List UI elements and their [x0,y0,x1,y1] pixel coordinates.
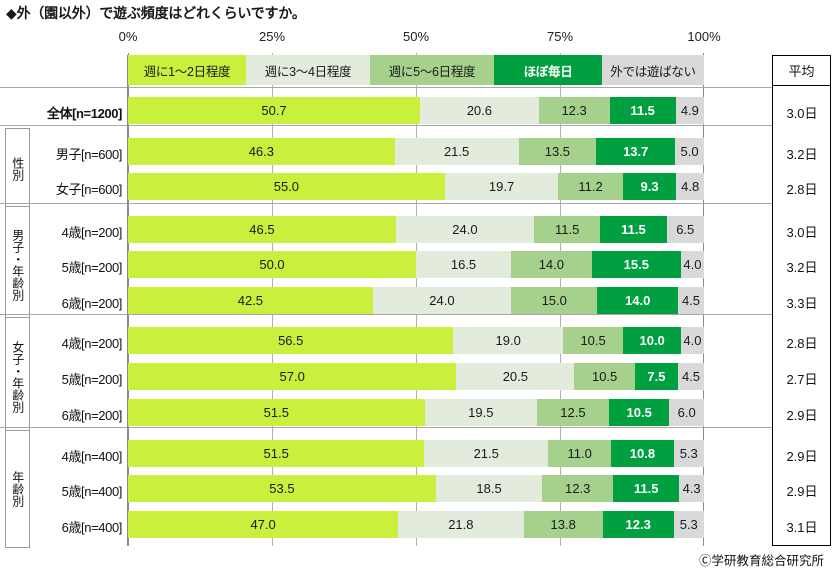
row-label: 4歳[n=200] [30,222,122,241]
bar-segment-5: 4.0 [681,327,704,354]
bar-segment-3: 12.3 [542,475,613,502]
bar-segment-1: 51.5 [128,440,424,467]
bar-segment-3: 10.5 [574,363,634,390]
group-separator [0,203,772,204]
bar-segment-1: 42.5 [128,287,373,314]
table-row: 57.020.510.57.54.5 [128,363,704,390]
group-label-text: 性別 [11,157,24,181]
bar-segment-2: 21.8 [398,511,523,538]
bar-segment-1: 46.3 [128,138,395,165]
average-header-rule [772,85,831,86]
bar-segment-3: 14.0 [511,251,592,278]
bar-segment-1: 51.5 [128,399,425,426]
bar-segment-5: 4.5 [678,363,704,390]
axis-tick-label: 25% [259,29,285,44]
table-row: 50.016.514.015.54.0 [128,251,704,278]
bar-segment-5: 4.5 [678,287,704,314]
row-label: 4歳[n=200] [30,333,122,352]
row-label: 女子[n=600] [30,179,122,198]
bar-segment-2: 24.0 [396,216,534,243]
axis-tick-label: 0% [119,29,138,44]
row-label: 5歳[n=200] [30,257,122,276]
chart-legend: 週に1～2日程度週に3～4日程度週に5～6日程度ほぼ毎日外では遊ばない [128,55,704,85]
bar-segment-4: 15.5 [592,251,681,278]
bar-segment-5: 5.3 [674,511,704,538]
bar-segment-2: 18.5 [436,475,542,502]
bar-segment-1: 50.7 [128,97,420,124]
bar-segment-1: 50.0 [128,251,416,278]
group-label-box: 年齢別 [5,430,30,548]
table-row: 51.521.511.010.85.3 [128,440,704,467]
table-row: 50.720.612.311.54.9 [128,97,704,124]
row-label: 5歳[n=400] [30,481,122,500]
axis-spine [127,55,128,546]
bar-segment-2: 19.7 [445,173,558,200]
legend-item-2[interactable]: 週に3～4日程度 [246,55,370,85]
bar-segment-2: 20.5 [456,363,574,390]
legend-item-1[interactable]: 週に1～2日程度 [128,55,246,85]
bar-segment-3: 10.5 [563,327,623,354]
bar-segment-4: 11.5 [600,216,666,243]
table-row: 47.021.813.812.35.3 [128,511,704,538]
bar-segment-5: 4.9 [676,97,704,124]
table-row: 42.524.015.014.04.5 [128,287,704,314]
row-label: 全体[n=1200] [10,103,122,122]
bar-segment-5: 4.8 [676,173,704,200]
bar-segment-5: 6.5 [667,216,704,243]
axis-tick-label: 50% [403,29,429,44]
bar-segment-5: 6.0 [669,399,704,426]
group-separator [0,87,772,88]
bar-segment-1: 55.0 [128,173,445,200]
table-row: 55.019.711.29.34.8 [128,173,704,200]
table-row: 46.524.011.511.56.5 [128,216,704,243]
axis-tick-label: 75% [547,29,573,44]
bar-segment-5: 5.0 [675,138,704,165]
group-label-text: 男子・年齢別 [11,229,24,301]
bar-segment-5: 4.0 [681,251,704,278]
legend-item-5[interactable]: 外では遊ばない [602,55,704,85]
row-label: 4歳[n=400] [30,446,122,465]
row-label: 6歳[n=200] [30,293,122,312]
bar-segment-3: 12.5 [537,399,609,426]
legend-item-3[interactable]: 週に5～6日程度 [370,55,494,85]
bar-segment-2: 16.5 [416,251,511,278]
bar-segment-1: 57.0 [128,363,456,390]
row-label: 6歳[n=400] [30,517,122,536]
bar-segment-3: 11.2 [558,173,623,200]
legend-item-4[interactable]: ほぼ毎日 [494,55,602,85]
bar-segment-4: 10.5 [609,399,669,426]
average-column-frame [772,55,831,546]
bar-segment-1: 53.5 [128,475,436,502]
axis-tick-label: 100% [687,29,720,44]
bar-segment-4: 12.3 [603,511,674,538]
row-label: 男子[n=600] [30,144,122,163]
bar-segment-4: 13.7 [596,138,675,165]
bar-segment-2: 21.5 [424,440,548,467]
bar-segment-3: 13.8 [524,511,603,538]
group-label-text: 女子・年齢別 [11,341,24,413]
bar-segment-1: 56.5 [128,327,453,354]
group-label-text: 年齢別 [11,471,24,507]
group-label-box: 性別 [5,128,30,210]
table-row: 46.321.513.513.75.0 [128,138,704,165]
bar-segment-4: 11.5 [610,97,676,124]
bar-segment-4: 14.0 [597,287,678,314]
average-column-header: 平均 [772,61,831,80]
bar-segment-5: 4.3 [679,475,704,502]
bar-segment-2: 19.0 [453,327,562,354]
bar-segment-5: 5.3 [674,440,704,467]
table-row: 51.519.512.510.56.0 [128,399,704,426]
bar-segment-3: 11.5 [534,216,600,243]
group-label-box: 女子・年齢別 [5,317,30,436]
group-label-box: 男子・年齢別 [5,206,30,324]
bar-segment-4: 9.3 [623,173,677,200]
bar-segment-4: 7.5 [635,363,678,390]
bar-segment-3: 11.0 [548,440,611,467]
group-separator [0,125,772,126]
bar-segment-2: 20.6 [420,97,539,124]
bar-segment-3: 13.5 [519,138,597,165]
bar-segment-2: 21.5 [395,138,519,165]
bar-segment-4: 10.0 [623,327,681,354]
bar-segment-2: 19.5 [425,399,537,426]
bar-segment-3: 15.0 [511,287,597,314]
bar-segment-4: 10.8 [611,440,673,467]
bar-segment-1: 47.0 [128,511,398,538]
table-row: 53.518.512.311.54.3 [128,475,704,502]
table-row: 56.519.010.510.04.0 [128,327,704,354]
bar-segment-2: 24.0 [373,287,511,314]
group-separator [0,314,772,315]
row-label: 6歳[n=200] [30,405,122,424]
bar-segment-1: 46.5 [128,216,396,243]
bar-segment-4: 11.5 [613,475,679,502]
page-title: ◆外（園以外）で遊ぶ頻度はどれくらいですか。 [6,3,306,23]
group-separator [0,427,772,428]
bar-segment-3: 12.3 [539,97,610,124]
row-label: 5歳[n=200] [30,369,122,388]
footer-credit: Ⓒ学研教育総合研究所 [699,550,824,569]
